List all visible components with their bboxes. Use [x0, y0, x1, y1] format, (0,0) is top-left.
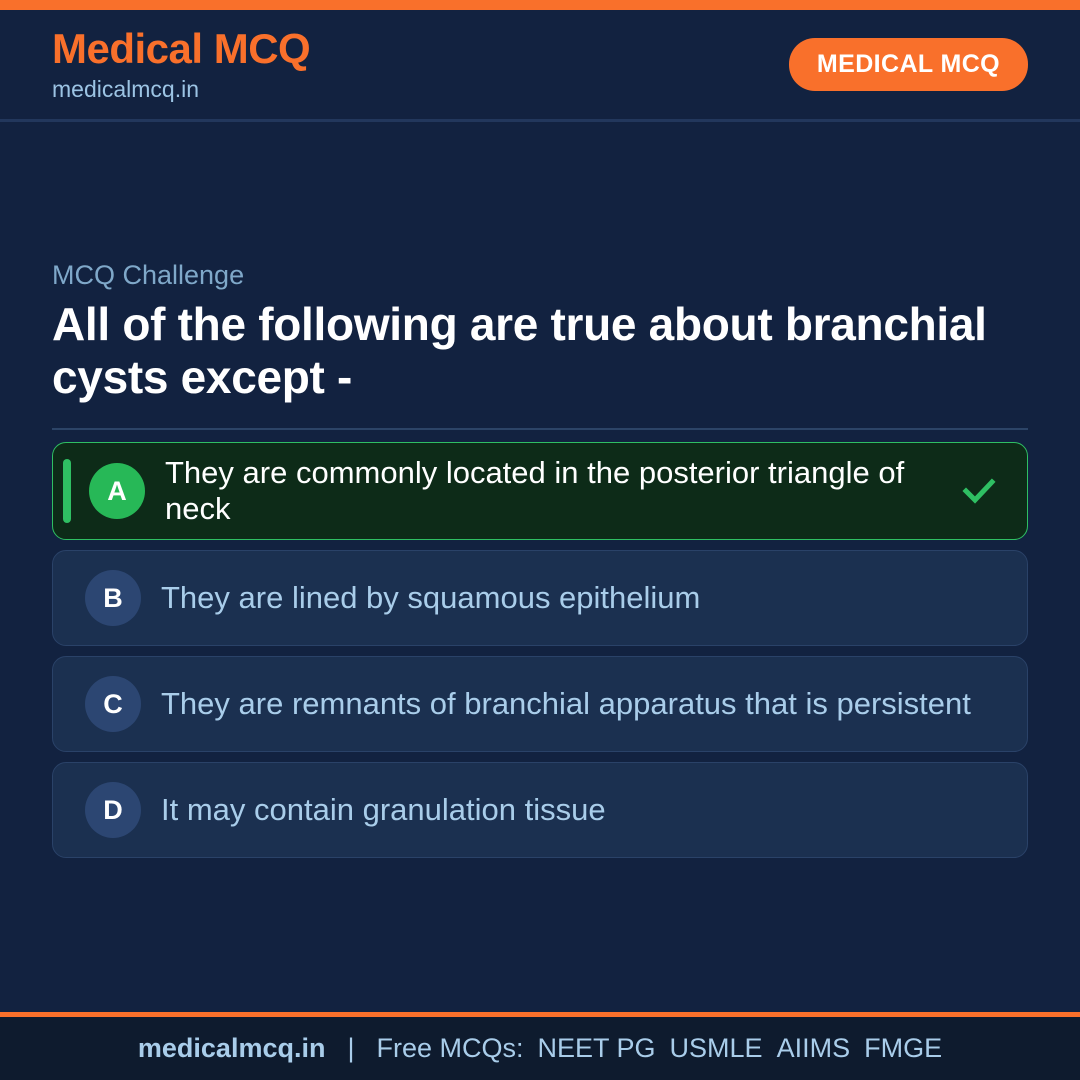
- brand-block: Medical MCQ medicalmcq.in: [52, 26, 310, 104]
- option-text-d: It may contain granulation tissue: [161, 792, 1005, 828]
- option-letter-b: B: [85, 570, 141, 626]
- footer-row: medicalmcq.in | Free MCQs: NEET PG USMLE…: [138, 1033, 942, 1064]
- question-block: MCQ Challenge All of the following are t…: [52, 258, 1028, 858]
- option-c[interactable]: C They are remnants of branchial apparat…: [52, 656, 1028, 752]
- option-text-a: They are commonly located in the posteri…: [165, 455, 957, 527]
- brand-subtitle: medicalmcq.in: [52, 74, 310, 104]
- option-text-b: They are lined by squamous epithelium: [161, 580, 1005, 616]
- footer-exam-neet-pg: NEET PG: [538, 1033, 656, 1064]
- divider: [52, 428, 1028, 430]
- footer-site: medicalmcq.in: [138, 1033, 326, 1064]
- page-title: All of the following are true about bran…: [52, 298, 1028, 404]
- option-b[interactable]: B They are lined by squamous epithelium: [52, 550, 1028, 646]
- top-accent-strip: [0, 0, 1080, 10]
- footer-label: Free MCQs:: [376, 1033, 523, 1064]
- footer-separator: |: [347, 1033, 354, 1064]
- header-badge: MEDICAL MCQ: [789, 38, 1028, 91]
- mcq-card: Medical MCQ medicalmcq.in MEDICAL MCQ MC…: [0, 0, 1080, 1080]
- footer-exam-fmge: FMGE: [864, 1033, 942, 1064]
- option-d[interactable]: D It may contain granulation tissue: [52, 762, 1028, 858]
- main-content: MCQ Challenge All of the following are t…: [0, 122, 1080, 1012]
- option-letter-d: D: [85, 782, 141, 838]
- options-list: A They are commonly located in the poste…: [52, 442, 1028, 858]
- footer-exam-usmle: USMLE: [670, 1033, 763, 1064]
- option-text-c: They are remnants of branchial apparatus…: [161, 686, 1005, 722]
- eyebrow-label: MCQ Challenge: [52, 258, 1028, 292]
- correct-accent-bar: [63, 459, 71, 523]
- brand-title: Medical MCQ: [52, 26, 310, 72]
- option-letter-a: A: [89, 463, 145, 519]
- option-letter-c: C: [85, 676, 141, 732]
- page-footer: medicalmcq.in | Free MCQs: NEET PG USMLE…: [0, 1012, 1080, 1080]
- footer-exam-aiims: AIIMS: [777, 1033, 851, 1064]
- option-a[interactable]: A They are commonly located in the poste…: [52, 442, 1028, 540]
- page-header: Medical MCQ medicalmcq.in MEDICAL MCQ: [0, 10, 1080, 122]
- check-icon: [957, 469, 1001, 513]
